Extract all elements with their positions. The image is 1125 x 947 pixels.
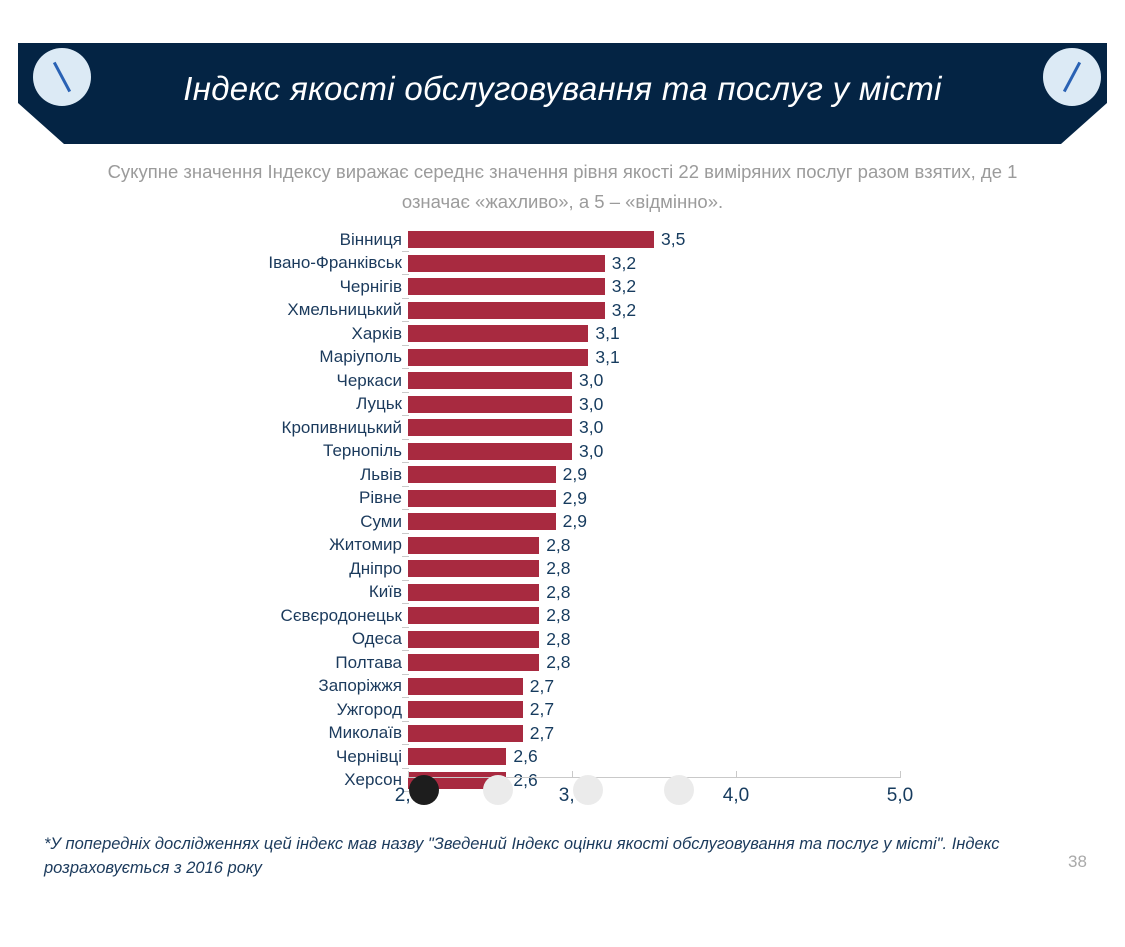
- bar-value-label: 2,8: [546, 582, 570, 603]
- axis-tick-label: 5,0: [887, 785, 913, 807]
- bar-value-label: 2,8: [546, 629, 570, 650]
- bar: [408, 537, 539, 554]
- bar: [408, 490, 556, 507]
- axis-tick-stub: [402, 674, 409, 675]
- chart-row: Рівне2,9: [0, 487, 1125, 511]
- category-label: Хмельницький: [102, 300, 402, 320]
- axis-tick-stub: [402, 791, 409, 792]
- axis-tick: [572, 771, 573, 778]
- chart-row: Полтава2,8: [0, 651, 1125, 675]
- axis-tick-label: 4,0: [723, 785, 749, 807]
- bar: [408, 325, 588, 342]
- chart-row: Ужгород2,7: [0, 698, 1125, 722]
- bar-value-label: 3,1: [595, 323, 619, 344]
- circle-slash-icon-right: [1043, 48, 1101, 106]
- category-label: Рівне: [102, 488, 402, 508]
- bar: [408, 513, 556, 530]
- category-label: Дніпро: [102, 559, 402, 579]
- category-label: Чернігів: [102, 277, 402, 297]
- chart-row: Кропивницький3,0: [0, 416, 1125, 440]
- axis-tick-stub: [402, 533, 409, 534]
- bar-value-label: 3,0: [579, 441, 603, 462]
- bar: [408, 631, 539, 648]
- category-label: Сєвєродонецьк: [102, 606, 402, 626]
- category-label: Маріуполь: [102, 347, 402, 367]
- axis-tick-stub: [402, 345, 409, 346]
- category-label: Харків: [102, 324, 402, 344]
- bar-value-label: 2,8: [546, 605, 570, 626]
- bar: [408, 255, 605, 272]
- bar-value-label: 2,9: [563, 511, 587, 532]
- decorative-dot: [483, 775, 513, 805]
- category-label: Кропивницький: [102, 418, 402, 438]
- bar-value-label: 3,5: [661, 229, 685, 250]
- bar-value-label: 2,7: [530, 699, 554, 720]
- bar: [408, 560, 539, 577]
- axis-tick: [408, 771, 409, 778]
- chart-row: Дніпро2,8: [0, 557, 1125, 581]
- category-label: Івано-Франківськ: [102, 253, 402, 273]
- chart-row: Миколаїв2,7: [0, 722, 1125, 746]
- category-label: Одеса: [102, 629, 402, 649]
- chart-row: Івано-Франківськ3,2: [0, 252, 1125, 276]
- chart-row: Запоріжжя2,7: [0, 675, 1125, 699]
- bar: [408, 678, 523, 695]
- chart-row: Луцьк3,0: [0, 393, 1125, 417]
- category-label: Вінниця: [102, 230, 402, 250]
- bar-value-label: 3,2: [612, 300, 636, 321]
- bar: [408, 701, 523, 718]
- axis-tick-stub: [402, 509, 409, 510]
- bar: [408, 607, 539, 624]
- chart-rows: Вінниця3,5Івано-Франківськ3,2Чернігів3,2…: [0, 228, 1125, 792]
- axis-tick-stub: [402, 697, 409, 698]
- slash-mark: [1063, 62, 1081, 93]
- axis-tick: [900, 771, 901, 778]
- category-label: Миколаїв: [102, 723, 402, 743]
- bar: [408, 302, 605, 319]
- page-title: Індекс якості обслуговування та послуг у…: [18, 43, 1107, 144]
- chart-row: Київ2,8: [0, 581, 1125, 605]
- axis-tick-stub: [402, 580, 409, 581]
- axis-tick-stub: [402, 627, 409, 628]
- bar: [408, 772, 506, 789]
- chart-row: Маріуполь3,1: [0, 346, 1125, 370]
- subtitle-text: Сукупне значення Індексу виражає середнє…: [95, 157, 1030, 217]
- chart-row: Черкаси3,0: [0, 369, 1125, 393]
- slide-header: Індекс якості обслуговування та послуг у…: [0, 0, 1125, 160]
- category-label: Черкаси: [102, 371, 402, 391]
- bar-value-label: 2,8: [546, 652, 570, 673]
- bar-value-label: 2,8: [546, 558, 570, 579]
- axis-tick-stub: [402, 603, 409, 604]
- decorative-dot: [409, 775, 439, 805]
- bar-value-label: 3,0: [579, 370, 603, 391]
- bar: [408, 654, 539, 671]
- bar: [408, 419, 572, 436]
- decorative-dot: [664, 775, 694, 805]
- axis-tick-stub: [402, 321, 409, 322]
- bar-value-label: 2,8: [546, 535, 570, 556]
- category-label: Львів: [102, 465, 402, 485]
- page-number: 38: [1068, 852, 1087, 872]
- bar: [408, 349, 588, 366]
- bar-value-label: 2,9: [563, 464, 587, 485]
- bar-value-label: 2,9: [563, 488, 587, 509]
- title-banner: Індекс якості обслуговування та послуг у…: [18, 43, 1107, 144]
- axis-tick-label: 2,0: [395, 785, 421, 807]
- x-axis-line: [408, 777, 900, 778]
- chart-row: Вінниця3,5: [0, 228, 1125, 252]
- category-label: Тернопіль: [102, 441, 402, 461]
- chart-row: Львів2,9: [0, 463, 1125, 487]
- axis-tick-stub: [402, 274, 409, 275]
- axis-tick-stub: [402, 650, 409, 651]
- chart-row: Хмельницький3,2: [0, 299, 1125, 323]
- axis-tick-stub: [402, 415, 409, 416]
- slash-mark: [53, 62, 71, 93]
- bar: [408, 278, 605, 295]
- bar-value-label: 3,0: [579, 394, 603, 415]
- axis-tick-stub: [402, 368, 409, 369]
- bar-value-label: 2,7: [530, 676, 554, 697]
- axis-tick-stub: [402, 298, 409, 299]
- category-label: Житомир: [102, 535, 402, 555]
- bar-value-label: 3,2: [612, 253, 636, 274]
- chart-row: Чернівці2,6: [0, 745, 1125, 769]
- bar-value-label: 3,1: [595, 347, 619, 368]
- chart-row: Одеса2,8: [0, 628, 1125, 652]
- category-label: Полтава: [102, 653, 402, 673]
- axis-tick-stub: [402, 556, 409, 557]
- category-label: Ужгород: [102, 700, 402, 720]
- axis-tick-stub: [402, 721, 409, 722]
- chart-row: Харків3,1: [0, 322, 1125, 346]
- chart-row: Чернігів3,2: [0, 275, 1125, 299]
- bar: [408, 372, 572, 389]
- axis-tick-stub: [402, 392, 409, 393]
- bar: [408, 231, 654, 248]
- bar: [408, 748, 506, 765]
- bar: [408, 443, 572, 460]
- bar-value-label: 2,6: [513, 770, 537, 791]
- axis-tick-stub: [402, 768, 409, 769]
- bar: [408, 725, 523, 742]
- chart-row: Житомир2,8: [0, 534, 1125, 558]
- bar-value-label: 2,6: [513, 746, 537, 767]
- axis-tick-stub: [402, 439, 409, 440]
- axis-tick-stub: [402, 251, 409, 252]
- axis-tick-stub: [402, 462, 409, 463]
- decorative-dot: [573, 775, 603, 805]
- circle-slash-icon-left: [33, 48, 91, 106]
- chart-row: Сєвєродонецьк2,8: [0, 604, 1125, 628]
- bar-value-label: 3,2: [612, 276, 636, 297]
- category-label: Київ: [102, 582, 402, 602]
- bar: [408, 584, 539, 601]
- category-label: Херсон: [102, 770, 402, 790]
- axis-tick: [736, 771, 737, 778]
- category-label: Чернівці: [102, 747, 402, 767]
- chart-row: Суми2,9: [0, 510, 1125, 534]
- category-label: Суми: [102, 512, 402, 532]
- bar: [408, 466, 556, 483]
- axis-tick-stub: [402, 486, 409, 487]
- chart-row: Херсон2,6: [0, 769, 1125, 793]
- category-label: Запоріжжя: [102, 676, 402, 696]
- footnote-text: *У попередніх дослідженнях цей індекс ма…: [44, 832, 1009, 880]
- axis-tick-label: 3,0: [559, 785, 585, 807]
- category-label: Луцьк: [102, 394, 402, 414]
- bar-value-label: 2,7: [530, 723, 554, 744]
- chart-row: Тернопіль3,0: [0, 440, 1125, 464]
- axis-tick-stub: [402, 744, 409, 745]
- bar: [408, 396, 572, 413]
- bar-value-label: 3,0: [579, 417, 603, 438]
